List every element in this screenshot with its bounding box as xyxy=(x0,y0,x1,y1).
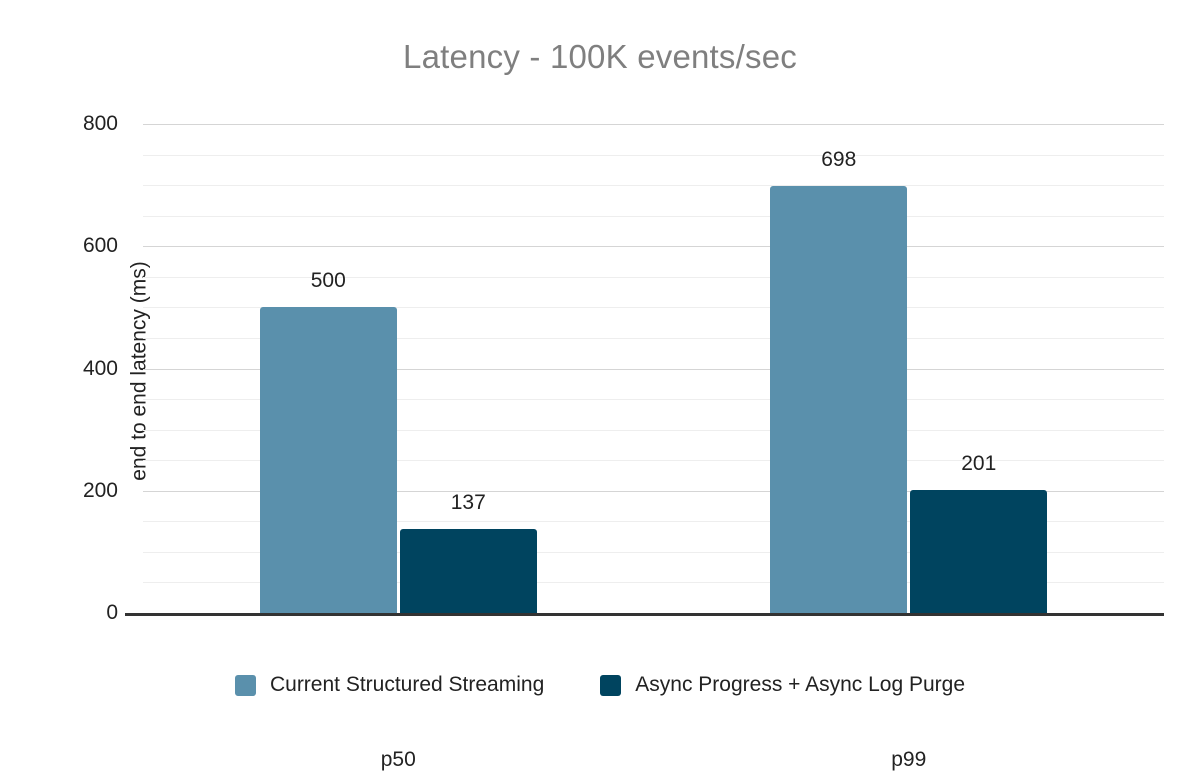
bar-chart: Latency - 100K events/sec end to end lat… xyxy=(0,0,1200,742)
legend-swatch-icon xyxy=(600,675,621,696)
bar-value-label: 500 xyxy=(311,269,346,293)
gridline-major xyxy=(143,124,1164,125)
y-axis-tick-label: 200 xyxy=(0,479,118,503)
plot-area: 0200400600800500137p50698201p99 xyxy=(143,124,1164,613)
y-axis-tick-label: 600 xyxy=(0,234,118,258)
legend-swatch-icon xyxy=(235,675,256,696)
bar-value-label: 137 xyxy=(451,491,486,515)
x-axis-tick-label: p50 xyxy=(381,748,416,772)
gridline-minor xyxy=(143,277,1164,278)
bar-p99-series-0[interactable] xyxy=(770,186,907,613)
bar-value-label: 698 xyxy=(821,148,856,172)
legend-item[interactable]: Async Progress + Async Log Purge xyxy=(600,673,965,697)
y-axis-tick-label: 800 xyxy=(0,112,118,136)
legend-item[interactable]: Current Structured Streaming xyxy=(235,673,544,697)
x-axis-tick-label: p99 xyxy=(891,748,926,772)
bar-p99-series-1[interactable] xyxy=(910,490,1047,613)
bar-p50-series-0[interactable] xyxy=(260,307,397,613)
y-axis-tick-label: 400 xyxy=(0,357,118,381)
bar-p50-series-1[interactable] xyxy=(400,529,537,613)
x-axis-line xyxy=(125,613,1164,616)
gridline-minor xyxy=(143,155,1164,156)
legend-label: Async Progress + Async Log Purge xyxy=(635,673,965,697)
gridline-minor xyxy=(143,216,1164,217)
bar-value-label: 201 xyxy=(961,452,996,476)
chart-title: Latency - 100K events/sec xyxy=(0,38,1200,76)
gridline-minor xyxy=(143,185,1164,186)
y-axis-tick-label: 0 xyxy=(0,601,118,625)
gridline-major xyxy=(143,246,1164,247)
chart-legend: Current Structured StreamingAsync Progre… xyxy=(0,673,1200,697)
legend-label: Current Structured Streaming xyxy=(270,673,544,697)
